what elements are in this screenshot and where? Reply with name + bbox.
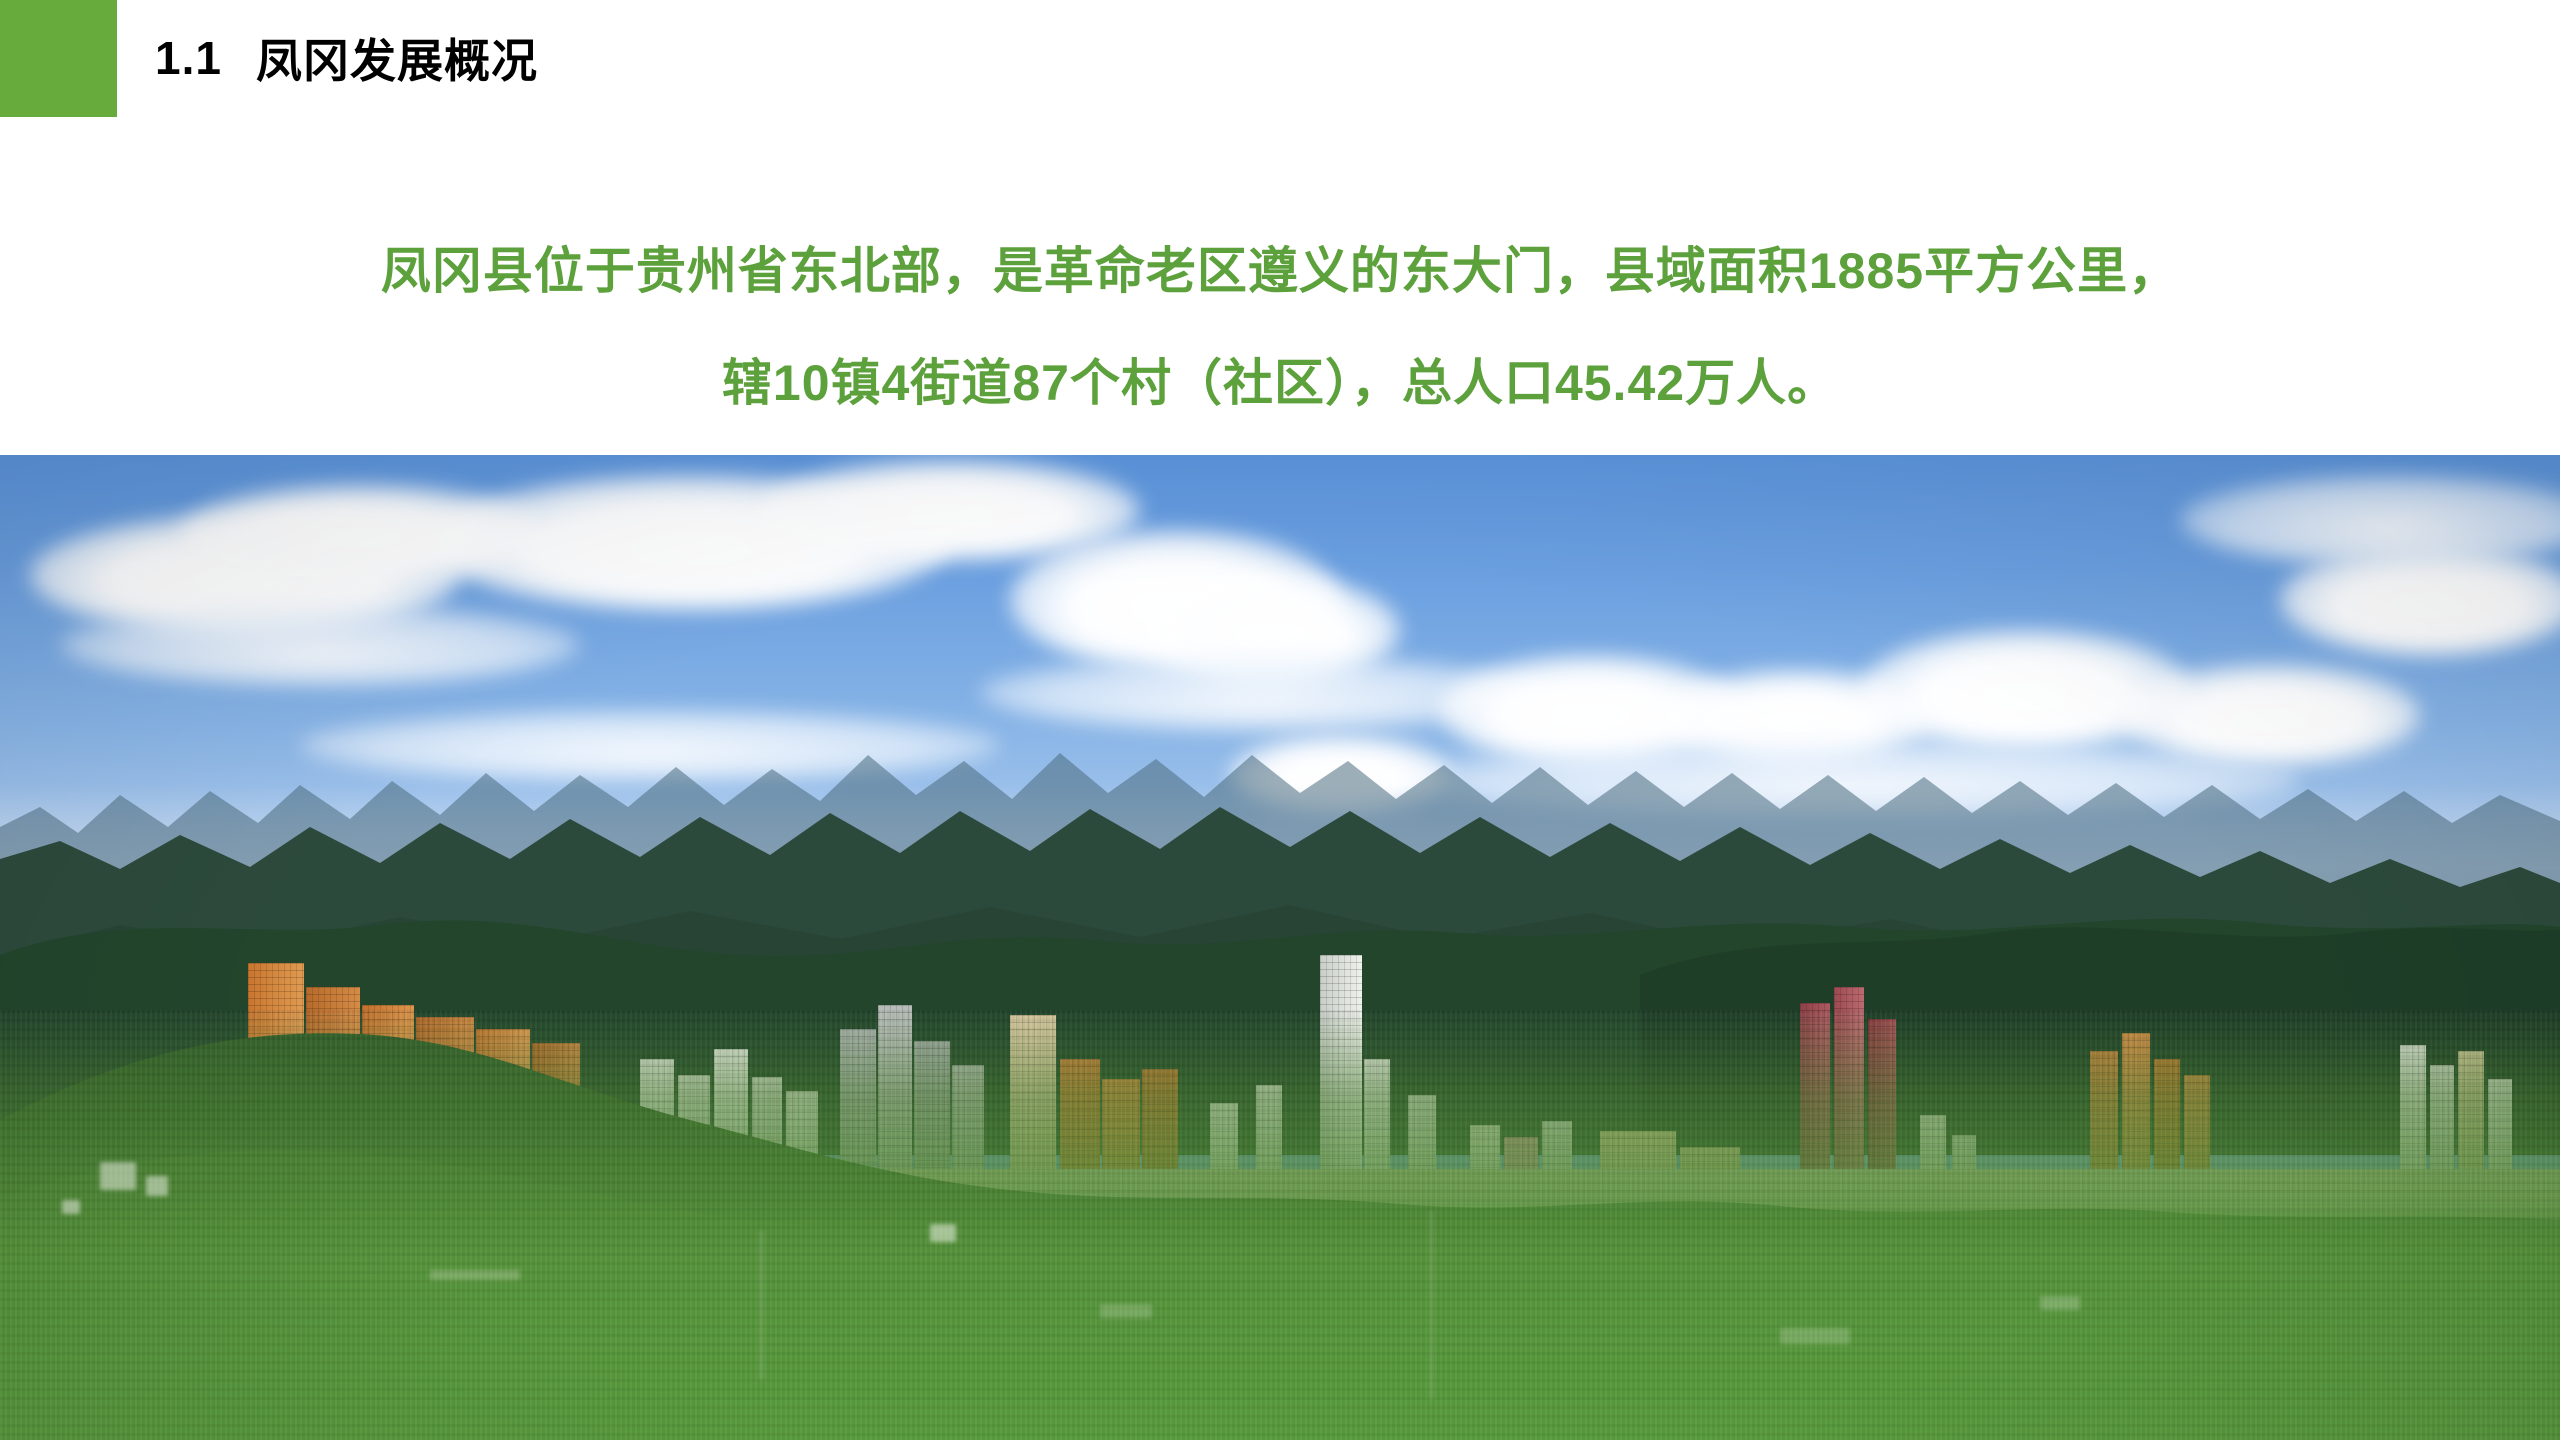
- header-accent-block: [0, 0, 117, 117]
- page-title-text: 凤冈发展概况: [256, 25, 538, 91]
- lead-line-1: 凤冈县位于贵州省东北部，是革命老区遵义的东大门，县域面积1885平方公里，: [130, 215, 2430, 327]
- foreground-forest-hill: [0, 820, 2560, 1440]
- lead-line-2: 辖10镇4街道87个村（社区），总人口45.42万人。: [130, 327, 2430, 439]
- foliage-texture: [0, 1010, 2560, 1440]
- page-title: 1.1 凤冈发展概况: [155, 18, 538, 98]
- section-number: 1.1: [155, 31, 222, 85]
- lead-paragraph: 凤冈县位于贵州省东北部，是革命老区遵义的东大门，县域面积1885平方公里， 辖1…: [130, 215, 2430, 439]
- city-panorama-photo: [0, 455, 2560, 1440]
- slide-root: 1.1 凤冈发展概况 凤冈县位于贵州省东北部，是革命老区遵义的东大门，县域面积1…: [0, 0, 2560, 1440]
